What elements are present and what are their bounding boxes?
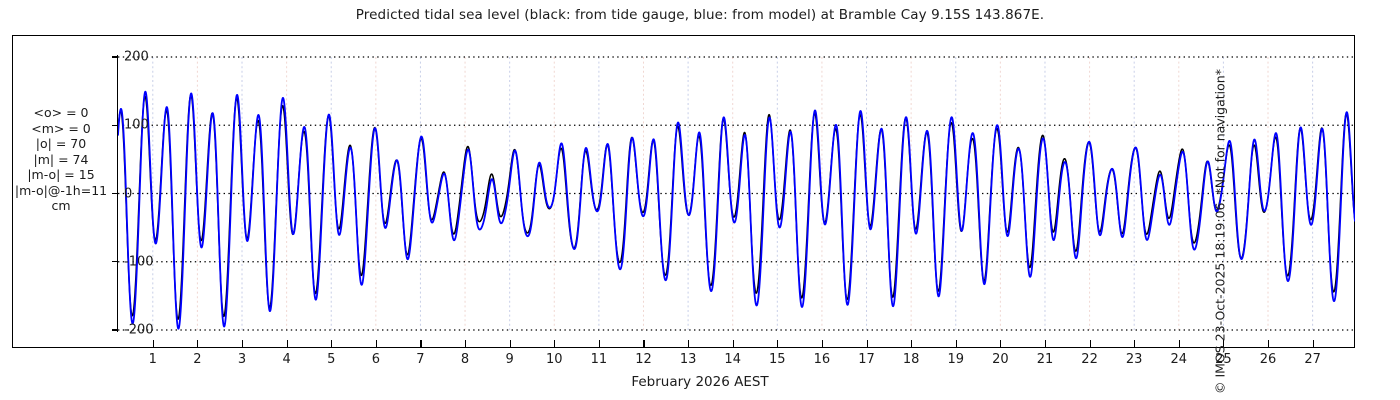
x-tick-label-9: 9 — [506, 352, 514, 367]
x-tick-mark-5 — [331, 340, 332, 348]
tide-chart-figure: Predicted tidal sea level (black: from t… — [0, 0, 1400, 400]
y-tick-label--200: -200 — [124, 323, 154, 338]
x-tick-label-16: 16 — [814, 352, 831, 367]
x-tick-label-5: 5 — [327, 352, 335, 367]
x-tick-mark-18 — [911, 340, 912, 348]
x-tick-label-22: 22 — [1081, 352, 1098, 367]
model-tide-line — [118, 92, 1355, 329]
x-tick-label-12: 12 — [635, 352, 652, 367]
y-tick-mark-200 — [112, 56, 118, 57]
x-tick-mark-6 — [376, 340, 377, 348]
x-tick-label-2: 2 — [193, 352, 201, 367]
y-tick-label--100: -100 — [124, 254, 154, 269]
x-tick-label-17: 17 — [858, 352, 875, 367]
x-tick-label-24: 24 — [1171, 352, 1188, 367]
x-tick-label-1: 1 — [149, 352, 157, 367]
x-tick-mark-21 — [1045, 340, 1046, 348]
x-tick-mark-19 — [956, 340, 957, 348]
x-tick-mark-14 — [733, 340, 734, 348]
x-tick-mark-16 — [822, 340, 823, 348]
y-tick-mark--100 — [112, 261, 118, 262]
x-tick-mark-7 — [420, 340, 421, 348]
y-tick-label-200: 200 — [124, 50, 149, 65]
tide-series-svg — [0, 0, 1400, 400]
gridline-layer — [118, 57, 1355, 330]
x-tick-mark-17 — [867, 340, 868, 348]
x-tick-label-14: 14 — [724, 352, 741, 367]
x-tick-label-19: 19 — [947, 352, 964, 367]
x-tick-label-7: 7 — [416, 352, 424, 367]
x-tick-mark-27 — [1313, 340, 1314, 348]
credit-watermark: © IMOS 23-Oct-2025 18:19:06. *Not for na… — [1379, 0, 1400, 400]
x-tick-mark-20 — [1000, 340, 1001, 348]
x-tick-mark-3 — [242, 340, 243, 348]
x-tick-label-8: 8 — [461, 352, 469, 367]
x-tick-mark-26 — [1268, 340, 1269, 348]
x-tick-mark-15 — [777, 340, 778, 348]
x-tick-label-6: 6 — [372, 352, 380, 367]
x-tick-label-13: 13 — [680, 352, 697, 367]
x-tick-label-23: 23 — [1126, 352, 1143, 367]
x-tick-mark-11 — [599, 340, 600, 348]
x-tick-label-11: 11 — [591, 352, 608, 367]
x-tick-mark-12 — [643, 340, 644, 348]
x-tick-label-21: 21 — [1037, 352, 1054, 367]
x-tick-mark-1 — [153, 340, 154, 348]
x-tick-mark-22 — [1090, 340, 1091, 348]
x-tick-label-18: 18 — [903, 352, 920, 367]
x-tick-mark-8 — [465, 340, 466, 348]
y-tick-mark--200 — [112, 329, 118, 330]
x-tick-label-27: 27 — [1304, 352, 1321, 367]
x-tick-label-20: 20 — [992, 352, 1009, 367]
x-tick-mark-4 — [287, 340, 288, 348]
x-tick-mark-9 — [510, 340, 511, 348]
credit-text: © IMOS 23-Oct-2025 18:19:06. *Not for na… — [1213, 69, 1228, 394]
x-tick-label-26: 26 — [1260, 352, 1277, 367]
y-tick-mark-0 — [112, 193, 118, 194]
x-tick-mark-13 — [688, 340, 689, 348]
x-axis-label: February 2026 AEST — [0, 374, 1400, 390]
x-tick-mark-24 — [1179, 340, 1180, 348]
x-tick-mark-23 — [1134, 340, 1135, 348]
x-tick-mark-2 — [197, 340, 198, 348]
x-tick-label-3: 3 — [238, 352, 246, 367]
x-tick-label-15: 15 — [769, 352, 786, 367]
y-tick-label-100: 100 — [124, 118, 149, 133]
x-tick-mark-10 — [554, 340, 555, 348]
y-tick-label-0: 0 — [124, 186, 132, 201]
x-tick-label-10: 10 — [546, 352, 563, 367]
y-tick-mark-100 — [112, 125, 118, 126]
x-tick-label-4: 4 — [282, 352, 290, 367]
